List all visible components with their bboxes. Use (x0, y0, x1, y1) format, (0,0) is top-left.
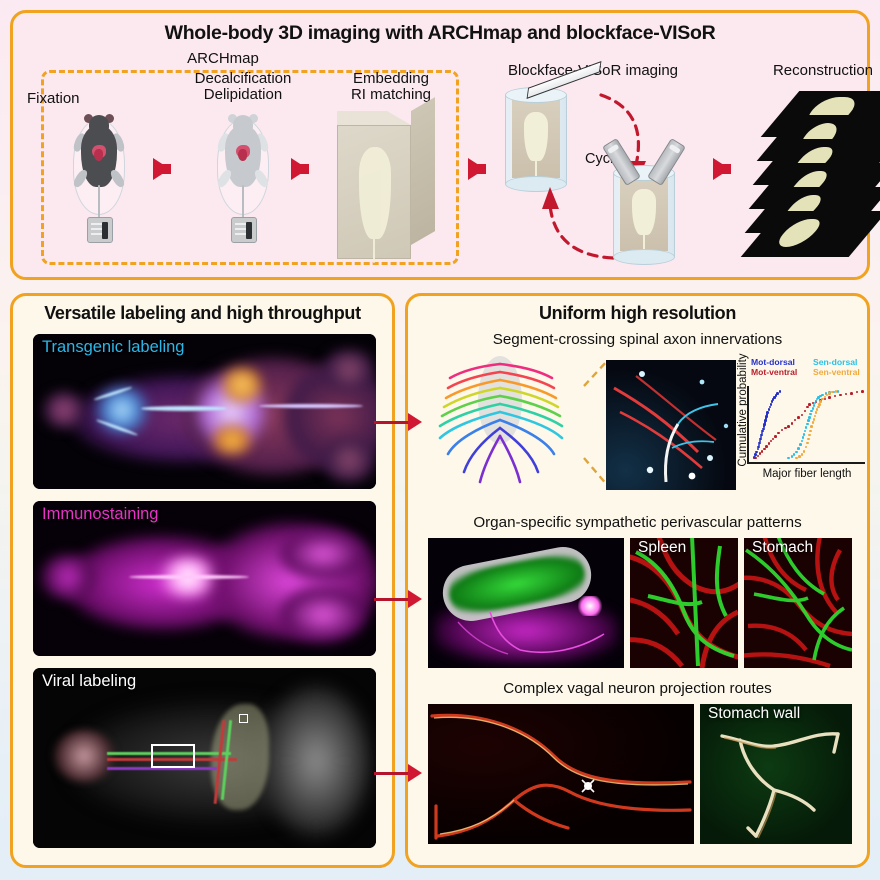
chart-point (821, 398, 824, 401)
chart-point (759, 440, 762, 443)
chart-point (812, 421, 815, 424)
chart-point (814, 402, 817, 405)
chart-point (777, 432, 780, 435)
chart-point (795, 457, 798, 460)
chart-point (804, 410, 807, 413)
chart-point (802, 436, 805, 439)
chart-point (809, 430, 812, 433)
chart-point (803, 450, 806, 453)
chart-point (779, 390, 782, 393)
chart-point (813, 418, 816, 421)
chart-point (768, 408, 771, 411)
chart-point (801, 440, 804, 443)
chart-point (755, 451, 758, 454)
chart-point (816, 408, 819, 411)
spinal-rendering[interactable] (422, 354, 582, 489)
mouse-cleared-icon (213, 103, 273, 248)
chart-point (861, 390, 864, 393)
chart-point (797, 416, 800, 419)
chart-point (812, 407, 815, 410)
top-panel: Whole-body 3D imaging with ARCHmap and b… (10, 10, 870, 280)
subtitle-vagal-routes: Complex vagal neuron projection routes (408, 680, 867, 697)
stage-label-reconstruction: Reconstruction (753, 63, 880, 79)
chart-point (808, 403, 811, 406)
chart-point (781, 429, 784, 432)
stage-label-line1: Embedding (331, 71, 451, 87)
image-axon-closeup[interactable] (606, 360, 736, 490)
chart-point (772, 438, 775, 441)
subtitle-organ-specific: Organ-specific sympathetic perivascular … (408, 514, 867, 531)
top-panel-title: Whole-body 3D imaging with ARCHmap and b… (13, 22, 867, 45)
chart-point (761, 450, 764, 453)
chart-point (808, 434, 811, 437)
chart-point (850, 392, 853, 395)
chart-point (774, 435, 777, 438)
right-panel: Uniform high resolution Segment-crossing… (405, 293, 870, 868)
chart-point (763, 448, 766, 451)
image-perivascular-overview[interactable] (428, 538, 624, 668)
chart-point (805, 446, 808, 449)
stage-label-line1: Decalcification (168, 71, 318, 87)
chart-point (808, 416, 811, 419)
chart-point (760, 436, 763, 439)
chart-point (819, 400, 822, 403)
mouse-dark-icon (69, 103, 129, 248)
chart-legend: Mot-dorsal Sen-dorsal Mot-ventral Sen-ve… (751, 358, 871, 377)
chart-point (809, 413, 812, 416)
image-stomach[interactable]: Stomach (744, 538, 852, 668)
tile-label-stomach: Stomach (752, 539, 813, 557)
chart-point (817, 406, 820, 409)
image-stomach-wall[interactable]: Stomach wall (700, 704, 852, 844)
legend-sen-ventral: Sen-ventral (813, 368, 869, 378)
chart-point (835, 390, 838, 393)
cross-arrow-immunostaining (374, 598, 410, 601)
legend-mot-ventral: Mot-ventral (751, 368, 807, 378)
left-panel: Versatile labeling and high throughput T… (10, 293, 395, 868)
chart-point (828, 392, 831, 395)
chart-point (787, 457, 790, 460)
image-label-immunostaining: Immunostaining (42, 505, 158, 524)
chart-point (814, 415, 817, 418)
chart-point (770, 403, 773, 406)
chart-point (797, 447, 800, 450)
flow-arrow-4 (713, 158, 730, 180)
chart-point (805, 426, 808, 429)
flow-arrow-1 (153, 158, 170, 180)
chart-point (787, 425, 790, 428)
chart-point (834, 395, 837, 398)
chart-point (794, 419, 797, 422)
chart-point (801, 453, 804, 456)
chart-point (754, 457, 757, 460)
cross-arrow-transgenic (374, 421, 410, 424)
chart-point (856, 391, 859, 394)
image-label-viral: Viral labeling (42, 672, 136, 691)
archmap-group-label: ARCHmap (133, 51, 313, 67)
chart-point (807, 438, 810, 441)
right-panel-title: Uniform high resolution (408, 303, 867, 324)
chart-point (810, 425, 813, 428)
cumulative-probability-chart[interactable]: Mot-dorsal Sen-dorsal Mot-ventral Sen-ve… (721, 358, 871, 498)
left-panel-title: Versatile labeling and high throughput (13, 303, 392, 324)
cross-arrow-viral (374, 772, 410, 775)
image-vagal-routes[interactable] (428, 704, 694, 844)
image-immunostaining[interactable]: Immunostaining (33, 501, 376, 656)
chart-point (803, 433, 806, 436)
flow-arrow-3 (468, 158, 485, 180)
chart-point (768, 442, 771, 445)
chart-point (769, 406, 772, 409)
image-transgenic-labeling[interactable]: Transgenic labeling (33, 334, 376, 489)
subtitle-spinal-axon: Segment-crossing spinal axon innervation… (408, 331, 867, 348)
chart-point (799, 443, 802, 446)
chart-point (791, 422, 794, 425)
chart-point (766, 411, 769, 414)
chart-point (757, 455, 760, 458)
chart-point (759, 438, 762, 441)
chart-point (784, 427, 787, 430)
chart-point (765, 445, 768, 448)
chart-point (845, 393, 848, 396)
tile-label-stomach-wall: Stomach wall (708, 705, 800, 723)
chart-point (806, 406, 809, 409)
chart-point (801, 414, 804, 417)
chart-point (804, 430, 807, 433)
stage-label-line2: Delipidation (168, 87, 318, 103)
embedding-block-icon (337, 111, 435, 259)
chart-point (813, 404, 816, 407)
image-viral-labeling[interactable]: Viral labeling (33, 668, 376, 848)
flow-arrow-2 (291, 158, 308, 180)
chart-point (793, 453, 796, 456)
chart-point (828, 396, 831, 399)
slice-stack-icon (758, 91, 880, 261)
stage-label-decalcification: Decalcification Delipidation (168, 71, 318, 103)
chart-point (837, 390, 840, 393)
chart-point (770, 440, 773, 443)
tile-label-spleen: Spleen (638, 539, 686, 557)
chart-point (815, 411, 818, 414)
chart-point (795, 451, 798, 454)
chart-plot-area (747, 386, 865, 464)
image-label-transgenic: Transgenic labeling (42, 338, 184, 357)
chart-point (839, 394, 842, 397)
chart-point (806, 423, 809, 426)
chart-point (818, 403, 821, 406)
chart-xlabel: Major fiber length (747, 468, 867, 480)
chart-point (806, 442, 809, 445)
image-spleen[interactable]: Spleen (630, 538, 738, 668)
chart-point (807, 419, 810, 422)
